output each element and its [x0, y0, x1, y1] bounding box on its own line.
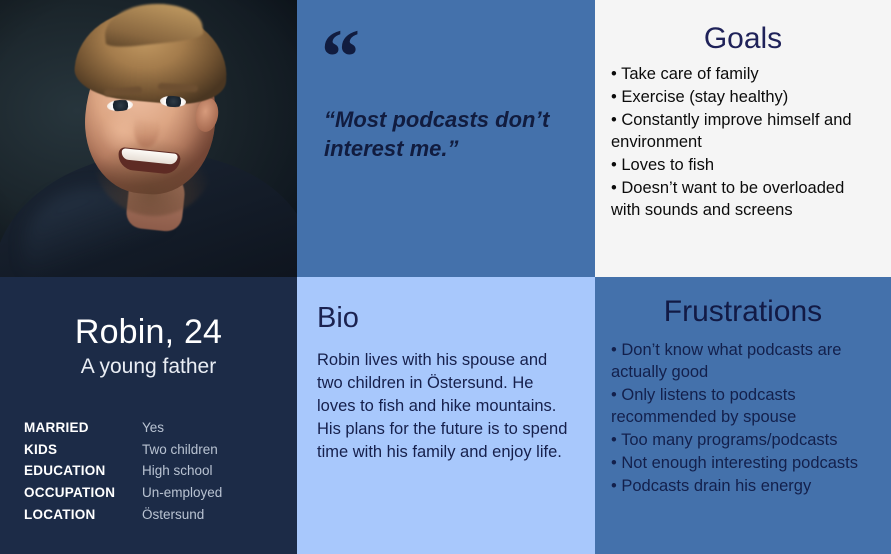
persona-details-table: MARRIED Yes KIDS Two children EDUCATION … [24, 418, 274, 526]
list-item: • Podcasts drain his energy [611, 476, 883, 498]
table-row: OCCUPATION Un-employed [24, 483, 274, 505]
list-item: • Constantly improve himself and environ… [611, 110, 875, 154]
quote-panel: “ “Most podcasts don’t interest me.” [297, 0, 595, 277]
detail-value: Östersund [142, 505, 274, 527]
list-item: • Take care of family [611, 64, 875, 86]
goals-list: • Take care of family • Exercise (stay h… [611, 64, 875, 223]
detail-label: MARRIED [24, 418, 142, 440]
profile-panel: Robin, 24 A young father MARRIED Yes KID… [0, 277, 297, 554]
table-row: EDUCATION High school [24, 461, 274, 483]
list-item: • Loves to fish [611, 155, 875, 177]
goals-panel: Goals • Take care of family • Exercise (… [595, 0, 891, 277]
table-row: KIDS Two children [24, 440, 274, 462]
detail-value: Yes [142, 418, 274, 440]
persona-photo-panel [0, 0, 297, 277]
detail-value: Un-employed [142, 483, 274, 505]
frustrations-list: • Don’t know what podcasts are actually … [611, 340, 883, 499]
detail-label: EDUCATION [24, 461, 142, 483]
bio-title: Bio [317, 302, 359, 335]
quotation-mark-icon: “ [321, 18, 358, 96]
persona-tagline: A young father [0, 355, 297, 379]
frustrations-title: Frustrations [595, 295, 891, 329]
list-item: • Not enough interesting podcasts [611, 453, 883, 475]
bio-panel: Bio Robin lives with his spouse and two … [297, 277, 595, 554]
detail-label: KIDS [24, 440, 142, 462]
detail-label: OCCUPATION [24, 483, 142, 505]
persona-card: “ “Most podcasts don’t interest me.” Goa… [0, 0, 891, 554]
portrait-photo [0, 0, 297, 277]
goals-title: Goals [595, 22, 891, 56]
detail-value: High school [142, 461, 274, 483]
detail-value: Two children [142, 440, 274, 462]
detail-label: LOCATION [24, 505, 142, 527]
table-row: MARRIED Yes [24, 418, 274, 440]
quote-text: “Most podcasts don’t interest me.” [324, 106, 576, 163]
list-item: • Exercise (stay healthy) [611, 87, 875, 109]
list-item: • Doesn’t want to be overloaded with sou… [611, 178, 875, 222]
list-item: • Don’t know what podcasts are actually … [611, 340, 883, 384]
persona-name: Robin, 24 [0, 313, 297, 352]
frustrations-panel: Frustrations • Don’t know what podcasts … [595, 277, 891, 554]
list-item: • Only listens to podcasts recommended b… [611, 385, 883, 429]
list-item: • Too many programs/podcasts [611, 430, 883, 452]
bio-text: Robin lives with his spouse and two chil… [317, 349, 576, 464]
table-row: LOCATION Östersund [24, 505, 274, 527]
